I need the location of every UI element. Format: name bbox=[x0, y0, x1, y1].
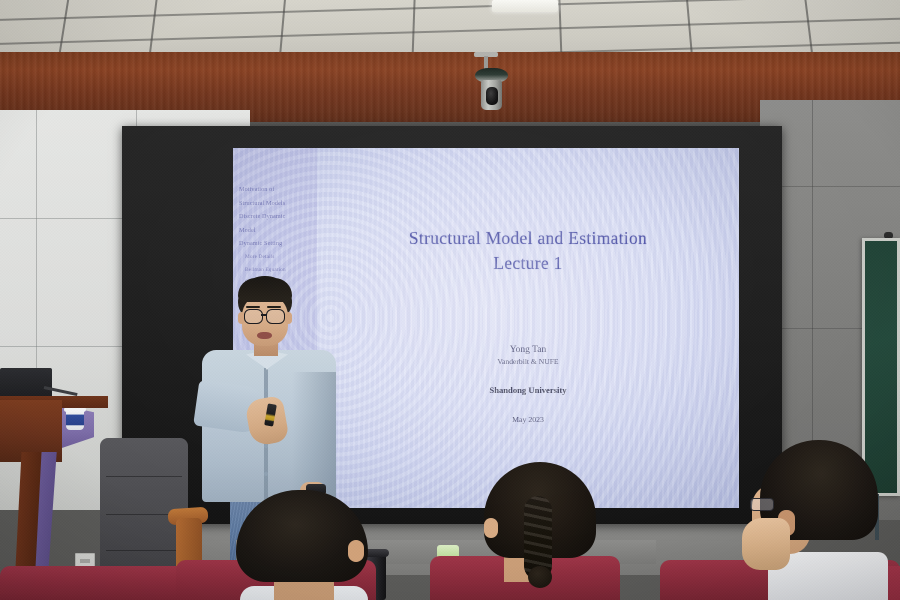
toc-item: Bellman Equation bbox=[245, 267, 317, 275]
glasses-lens-right bbox=[266, 309, 285, 324]
slide-title: Structural Model and Estimation Lecture … bbox=[317, 226, 739, 276]
toc-item: Discrete Dynamic bbox=[239, 213, 317, 221]
glasses-bridge bbox=[261, 314, 267, 316]
slide-body: Structural Model and Estimation Lecture … bbox=[317, 148, 739, 508]
presenter-mouth bbox=[257, 332, 272, 339]
audience-member bbox=[742, 440, 892, 600]
coffee-cup bbox=[66, 410, 84, 430]
slide-author: Yong Tan bbox=[317, 344, 739, 357]
slide-venue: Shandong University bbox=[317, 385, 739, 395]
audience-ear bbox=[348, 540, 364, 562]
lecture-hall-photo: Motivation of Structural Models Discrete… bbox=[0, 0, 900, 600]
shirt-button bbox=[264, 444, 268, 448]
ceiling-light-panel bbox=[492, 0, 558, 12]
slide-author-block: Yong Tan Vanderbilt & NUFE Shandong Univ… bbox=[317, 344, 739, 424]
slide-title-line1: Structural Model and Estimation bbox=[317, 226, 739, 251]
presenter-ear-right bbox=[285, 312, 292, 324]
shirt-button bbox=[264, 472, 268, 476]
toc-item: Motivation of bbox=[239, 186, 317, 194]
slide-affiliation: Vanderbilt & NUFE bbox=[317, 357, 739, 367]
slide-title-line2: Lecture 1 bbox=[317, 251, 739, 276]
camera-lens-icon bbox=[486, 87, 498, 105]
toc-item: Model bbox=[239, 227, 317, 235]
toc-item: More Details bbox=[245, 254, 317, 262]
presenter-eyebrow-left bbox=[246, 306, 260, 308]
presenter-eyebrow-right bbox=[267, 306, 281, 308]
audience-hair bbox=[236, 490, 368, 582]
auditorium-seat bbox=[0, 566, 190, 600]
presenter-hair-front bbox=[238, 278, 292, 302]
toc-item: Dynamic Setting bbox=[239, 240, 317, 248]
glasses-lens-left bbox=[244, 309, 263, 324]
audience-hair-bun bbox=[528, 566, 552, 588]
audience-member bbox=[236, 490, 368, 600]
audience-ear bbox=[484, 518, 498, 538]
audience-hand bbox=[742, 518, 790, 570]
audience-glasses bbox=[750, 498, 774, 511]
toc-item: Structural Models bbox=[239, 200, 317, 208]
slide-date: May 2023 bbox=[317, 415, 739, 424]
shirt-button bbox=[264, 388, 268, 392]
audience-member bbox=[478, 462, 606, 600]
